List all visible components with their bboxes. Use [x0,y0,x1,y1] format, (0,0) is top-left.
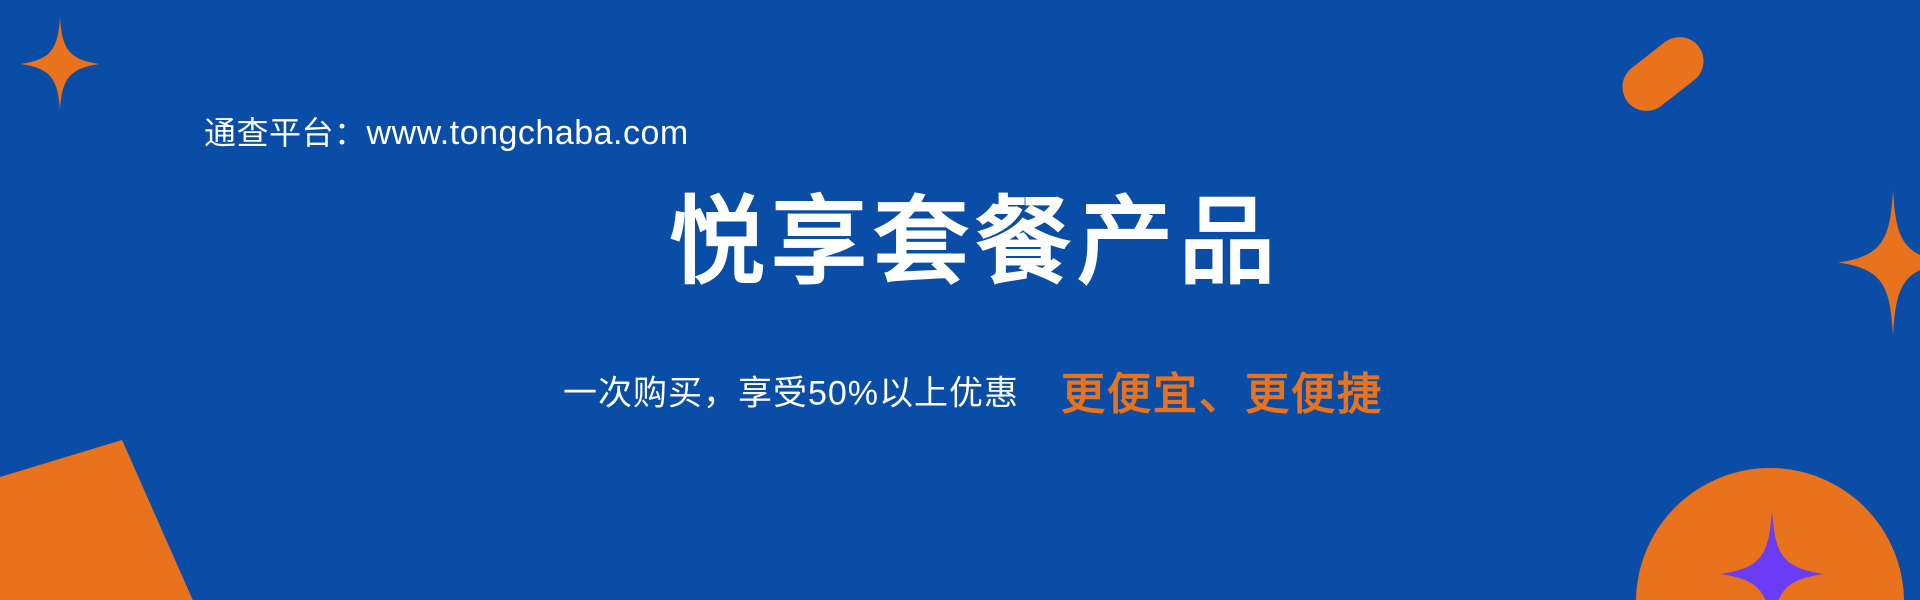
site-label: 通查平台： [204,115,367,151]
text-layer: 通查平台：www.tongchaba.com 悦享套餐产品 一次购买，享受50%… [0,0,1920,600]
site-line: 通查平台：www.tongchaba.com [204,108,689,154]
promo-banner: 通查平台：www.tongchaba.com 悦享套餐产品 一次购买，享受50%… [0,0,1920,600]
subtitle-offer-text: 一次购买，享受50%以上优惠 [563,375,1019,413]
site-url: www.tongchaba.com [367,114,689,152]
subtitle-row: 一次购买，享受50%以上优惠更便宜、更便捷 [0,358,1920,422]
subtitle-highlight-text: 更便宜、更便捷 [1061,370,1383,419]
page-title: 悦享套餐产品 [0,190,1920,296]
